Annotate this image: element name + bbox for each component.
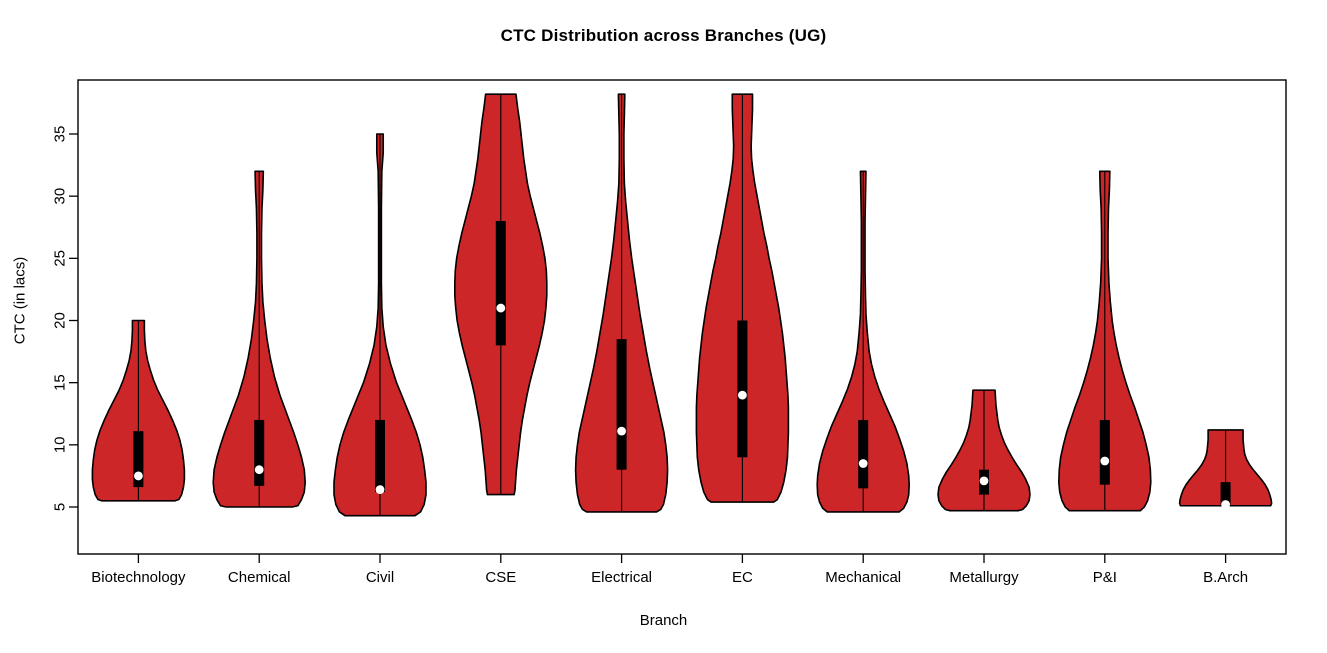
- x-axis-tick-label-electrical: Electrical: [591, 569, 652, 586]
- y-axis-tick-label: 15: [52, 374, 69, 391]
- x-axis-tick-label-biotechnology: Biotechnology: [91, 569, 186, 586]
- iqr-box: [617, 339, 627, 470]
- violin-p-i[interactable]: [1059, 171, 1151, 510]
- x-axis-tick-label-ec: EC: [732, 569, 753, 586]
- violin-metallurgy[interactable]: [938, 390, 1030, 511]
- median-marker: [134, 472, 143, 481]
- median-marker: [980, 476, 989, 485]
- median-marker: [496, 304, 505, 313]
- iqr-box: [1100, 420, 1110, 485]
- violin-civil[interactable]: [334, 134, 426, 516]
- median-marker: [1100, 457, 1109, 466]
- plot-canvas: 5101520253035BiotechnologyChemicalCivilC…: [0, 0, 1327, 653]
- violin-plot-figure: CTC Distribution across Branches (UG) Br…: [0, 0, 1327, 653]
- iqr-box: [496, 221, 506, 345]
- median-marker: [617, 427, 626, 436]
- x-axis-tick-label-metallurgy: Metallurgy: [949, 569, 1019, 586]
- violin-ec[interactable]: [696, 94, 788, 502]
- iqr-box: [254, 420, 264, 486]
- y-axis-tick-label: 30: [52, 188, 69, 205]
- x-axis-tick-label-chemical: Chemical: [228, 569, 291, 586]
- y-axis-tick-label: 25: [52, 250, 69, 267]
- y-axis-tick-label: 10: [52, 436, 69, 453]
- x-axis-tick-label-civil: Civil: [366, 569, 394, 586]
- violins-layer: [92, 94, 1271, 515]
- median-marker: [859, 459, 868, 468]
- x-axis-tick-label-cse: CSE: [485, 569, 516, 586]
- median-marker: [376, 485, 385, 494]
- violin-biotechnology[interactable]: [92, 321, 184, 501]
- x-axis-tick-label-b-arch: B.Arch: [1203, 569, 1248, 586]
- violin-electrical[interactable]: [576, 94, 668, 512]
- violin-mechanical[interactable]: [817, 171, 909, 512]
- x-axis-tick-label-mechanical: Mechanical: [825, 569, 901, 586]
- y-axis-tick-label: 5: [52, 503, 69, 511]
- iqr-box: [375, 420, 385, 492]
- iqr-box: [737, 321, 747, 458]
- median-marker: [255, 465, 264, 474]
- x-axis-tick-label-p-i: P&I: [1093, 569, 1117, 586]
- median-marker: [1221, 500, 1230, 509]
- violin-cse[interactable]: [455, 94, 547, 494]
- violin-chemical[interactable]: [213, 171, 305, 507]
- y-axis-tick-label: 35: [52, 126, 69, 143]
- violin-b-arch[interactable]: [1180, 430, 1272, 509]
- y-axis-tick-label: 20: [52, 312, 69, 329]
- iqr-box: [858, 420, 868, 488]
- median-marker: [738, 391, 747, 400]
